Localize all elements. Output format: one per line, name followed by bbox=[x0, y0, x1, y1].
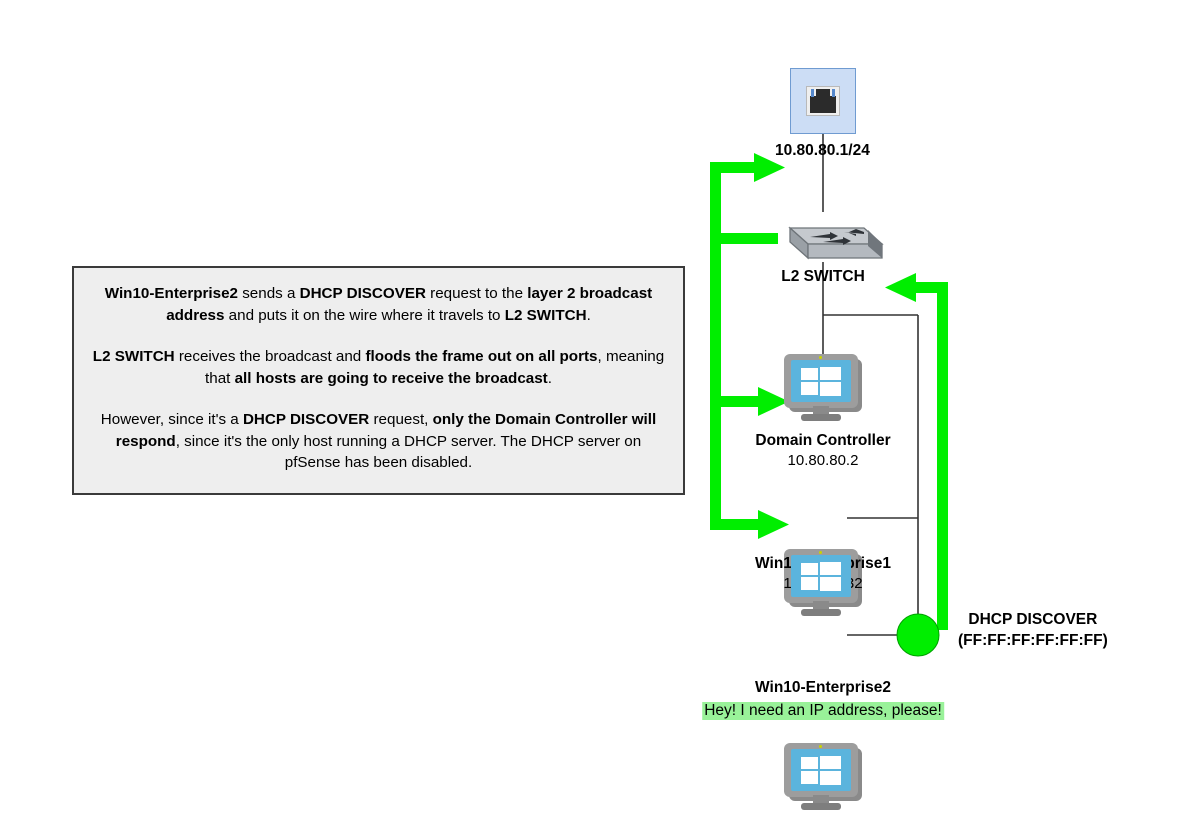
node-l2-switch[interactable] bbox=[768, 212, 888, 262]
win10-enterprise2-label: Win10-Enterprise2 bbox=[755, 679, 891, 697]
windows-logo-icon bbox=[801, 562, 841, 591]
windows-logo-icon bbox=[801, 756, 841, 785]
flood-branch-win1 bbox=[710, 519, 762, 530]
request-elbow bbox=[912, 282, 948, 293]
rj45-port-icon bbox=[806, 86, 840, 116]
flood-branch-dc bbox=[710, 396, 762, 407]
request-path bbox=[885, 273, 948, 630]
node-win10-enterprise1[interactable] bbox=[784, 549, 862, 621]
domain-controller-label: Domain Controller bbox=[755, 432, 890, 450]
flood-paths bbox=[710, 153, 789, 539]
network-diagram: 10.80.80.1/24 L2 SWITCH bbox=[690, 40, 1200, 770]
dhcp-discover-mac: (FF:FF:FF:FF:FF:FF) bbox=[958, 631, 1108, 652]
request-arrowhead-switch bbox=[885, 273, 916, 302]
dhcp-flow-layer bbox=[690, 40, 1200, 770]
dhcp-discover-annotation: DHCP DISCOVER (FF:FF:FF:FF:FF:FF) bbox=[958, 610, 1108, 652]
dhcp-discover-origin-dot bbox=[897, 614, 939, 656]
switch-icon bbox=[768, 212, 888, 262]
explanation-paragraph-2: L2 SWITCH receives the broadcast and flo… bbox=[88, 346, 669, 389]
explanation-paragraph-1: Win10-Enterprise2 sends a DHCP DISCOVER … bbox=[88, 283, 669, 326]
explanation-paragraph-3: However, since it's a DHCP DISCOVER requ… bbox=[88, 409, 669, 474]
flood-branch-pfsense bbox=[710, 162, 758, 173]
flood-arrowhead-win1 bbox=[758, 510, 789, 539]
pfsense-ip-label: 10.80.80.1/24 bbox=[775, 142, 870, 160]
request-trunk bbox=[937, 282, 948, 630]
explanation-text-box: Win10-Enterprise2 sends a DHCP DISCOVER … bbox=[72, 266, 685, 495]
domain-controller-ip: 10.80.80.2 bbox=[788, 452, 859, 469]
dhcp-discover-title: DHCP DISCOVER bbox=[958, 610, 1108, 631]
flood-trunk bbox=[710, 162, 721, 530]
windows-logo-icon bbox=[801, 367, 841, 396]
node-domain-controller[interactable] bbox=[784, 354, 862, 426]
win10-enterprise2-speech-caption: Hey! I need an IP address, please! bbox=[702, 702, 944, 720]
node-pfsense-router[interactable] bbox=[790, 68, 856, 134]
l2-switch-label: L2 SWITCH bbox=[781, 268, 865, 286]
node-win10-enterprise2[interactable] bbox=[784, 743, 862, 815]
